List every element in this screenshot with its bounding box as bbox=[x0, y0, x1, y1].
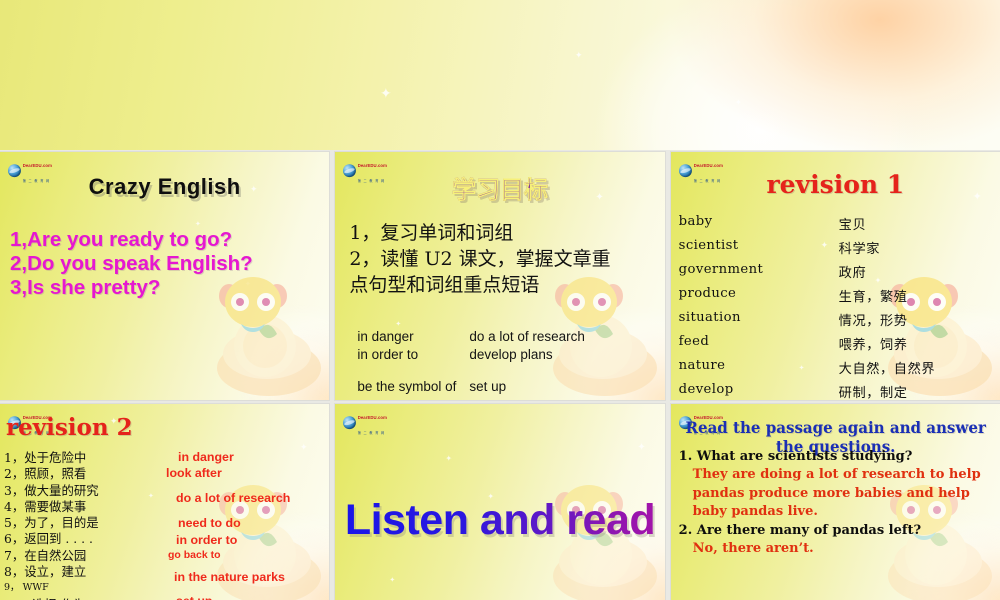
goal-item: 2，读懂 U2 课文，掌握文章重 bbox=[349, 246, 656, 272]
vocab-row: baby宝贝 bbox=[679, 214, 992, 238]
vocabulary-table: baby宝贝 scientist科学家 government政府 produce… bbox=[679, 214, 992, 400]
sparkle-icon: ✦ bbox=[637, 442, 645, 453]
vocab-row: nature大自然，自然界 bbox=[679, 358, 992, 382]
list-item: 6，返回到 . . . . bbox=[4, 531, 164, 547]
slide-title: revision 1 bbox=[671, 170, 1000, 199]
vocab-row: feed喂养，饲养 bbox=[679, 334, 992, 358]
goal-item: 1，复习单词和词组 bbox=[349, 220, 656, 246]
slide-thumbnail-learning-goals[interactable]: DearEDU.com 第 二 教 育 网 ✦ ✦ bbox=[335, 152, 664, 400]
list-item: in the nature parks bbox=[174, 570, 285, 584]
vocab-zh: 喂养，饲养 bbox=[839, 334, 908, 353]
phrase-right: do a lot of research bbox=[469, 328, 585, 346]
goal-item: 点句型和词组重点短语 bbox=[349, 272, 656, 298]
slide-thumbnail-revision-2[interactable]: DearEDU.com 第 二 教 育 网 ✦ ✦ ✦ bbox=[0, 404, 329, 600]
vocab-en: feed bbox=[679, 334, 839, 349]
answer-text: baby pandas live. bbox=[679, 503, 994, 521]
spacer bbox=[357, 364, 658, 378]
phrase-left: in order to bbox=[357, 346, 469, 364]
vocab-en: scientist bbox=[679, 238, 839, 253]
phrase-table: in danger do a lot of research in order … bbox=[357, 328, 658, 397]
vocab-row: government政府 bbox=[679, 262, 992, 286]
list-item: do a lot of research bbox=[176, 491, 290, 505]
slide-title: Listen and read bbox=[335, 496, 664, 545]
watermark-logo: DearEDU.com 第 二 教 育 网 bbox=[343, 408, 387, 437]
phrase-left: be the symbol of bbox=[357, 378, 469, 396]
vocab-en: nature bbox=[679, 358, 839, 373]
logo-brand: DearEDU.com bbox=[693, 163, 722, 168]
globe-icon bbox=[343, 416, 356, 429]
phrase-row: in order to develop plans bbox=[357, 346, 658, 364]
vocab-en: baby bbox=[679, 214, 839, 229]
sparkle-icon: ✦ bbox=[445, 454, 452, 463]
slide-title: 学习目标 bbox=[335, 170, 664, 205]
slide-title: revision 2 bbox=[6, 414, 133, 441]
phrase-left: in danger bbox=[357, 328, 469, 346]
slide-thumbnail-listen-and-read[interactable]: DearEDU.com 第 二 教 育 网 ✦ ✦ ✦ ✦ bbox=[335, 404, 664, 600]
vocab-zh: 研制，制定 bbox=[839, 382, 908, 400]
list-item: 5，为了，目的是 bbox=[4, 515, 164, 531]
phrase-row: be the symbol of set up bbox=[357, 378, 658, 396]
vocab-en: situation bbox=[679, 310, 839, 325]
list-item: set up bbox=[176, 594, 213, 600]
slide-title: Crazy English bbox=[0, 174, 329, 200]
sparkle-icon: ✦ bbox=[300, 442, 308, 453]
question-answer-list: 1. What are scientists studying? They ar… bbox=[679, 448, 994, 559]
vocab-zh: 生育，繁殖 bbox=[839, 286, 908, 305]
phrase-right: set up bbox=[469, 378, 506, 396]
slide-preview-page: ✦ ✦ ✦ DearEDU.com 第 二 教 育 网 ✦ ✦ ✦ bbox=[0, 0, 1000, 600]
sparkle-icon: ✦ bbox=[395, 320, 401, 328]
phrase-right: develop plans bbox=[469, 346, 552, 364]
question-item: 3,Is she pretty? bbox=[10, 276, 321, 300]
list-item: need to do bbox=[178, 516, 241, 530]
answer-text: They are doing a lot of research to help bbox=[679, 466, 994, 484]
vocab-zh: 宝贝 bbox=[839, 214, 867, 233]
vocab-en: produce bbox=[679, 286, 839, 301]
vocab-zh: 政府 bbox=[839, 262, 867, 281]
logo-brand: DearEDU.com bbox=[23, 163, 52, 168]
vocab-row: develop研制，制定 bbox=[679, 382, 992, 400]
answer-text: pandas produce more babies and help bbox=[679, 485, 994, 503]
vocab-zh: 大自然，自然界 bbox=[839, 358, 936, 377]
list-item: look after bbox=[166, 466, 222, 480]
question-list: 1,Are you ready to go? 2,Do you speak En… bbox=[10, 228, 321, 300]
answer-text: No, there aren’t. bbox=[679, 540, 994, 558]
vocab-en: government bbox=[679, 262, 839, 277]
vocab-row: situation情况，形势 bbox=[679, 310, 992, 334]
list-item: go back to bbox=[168, 549, 221, 561]
slide-thumbnail-crazy-english[interactable]: DearEDU.com 第 二 教 育 网 ✦ ✦ ✦ bbox=[0, 152, 329, 400]
goal-list: 1，复习单词和词组 2，读懂 U2 课文，掌握文章重 点句型和词组重点短语 bbox=[349, 220, 656, 298]
phrase-row: in danger do a lot of research bbox=[357, 328, 658, 346]
vocab-zh: 科学家 bbox=[839, 238, 880, 257]
list-item: 7，在自然公园 bbox=[4, 548, 164, 564]
logo-brand: DearEDU.com bbox=[358, 163, 387, 168]
slide-thumbnail-revision-1[interactable]: DearEDU.com 第 二 教 育 网 ✦ ✦ ✦ ✦ bbox=[671, 152, 1000, 400]
vocab-row: produce生育，繁殖 bbox=[679, 286, 992, 310]
list-item: in order to bbox=[176, 533, 237, 547]
list-item: 3，做大量的研究 bbox=[4, 483, 164, 499]
sparkle-icon: ✦ bbox=[735, 98, 742, 107]
list-item: 2，照顾，照看 bbox=[4, 466, 164, 482]
question-text: 1. What are scientists studying? bbox=[679, 448, 994, 466]
slide-grid: DearEDU.com 第 二 教 育 网 ✦ ✦ ✦ bbox=[0, 152, 1000, 600]
slide-background-banner: ✦ ✦ ✦ bbox=[0, 0, 1000, 150]
chinese-phrase-list: 1，处于危险中 2，照顾，照看 3，做大量的研究 4，需要做某事 5，为了，目的… bbox=[4, 450, 164, 600]
logo-subtitle: 第 二 教 育 网 bbox=[358, 431, 385, 435]
list-item: in danger bbox=[178, 450, 234, 464]
vocab-row: scientist科学家 bbox=[679, 238, 992, 262]
list-item: 1，处于危险中 bbox=[4, 450, 164, 466]
sparkle-icon: ✦ bbox=[389, 576, 395, 584]
slide-thumbnail-read-the-passage[interactable]: DearEDU.com 第 二 教 育 网 ✦ bbox=[671, 404, 1000, 600]
list-item: 9， WWF bbox=[4, 580, 164, 596]
vocab-zh: 情况，形势 bbox=[839, 310, 908, 329]
question-item: 1,Are you ready to go? bbox=[10, 228, 321, 252]
vocab-en: develop bbox=[679, 382, 839, 397]
list-item: 4，需要做某事 bbox=[4, 499, 164, 515]
question-item: 2,Do you speak English? bbox=[10, 252, 321, 276]
question-text: 2. Are there many of pandas left? bbox=[679, 522, 994, 540]
list-item: 8，设立，建立 bbox=[4, 564, 164, 580]
logo-brand: DearEDU.com bbox=[358, 415, 387, 420]
sparkle-icon: ✦ bbox=[380, 85, 392, 102]
sparkle-icon: ✦ bbox=[195, 220, 201, 228]
sparkle-icon: ✦ bbox=[575, 50, 583, 61]
